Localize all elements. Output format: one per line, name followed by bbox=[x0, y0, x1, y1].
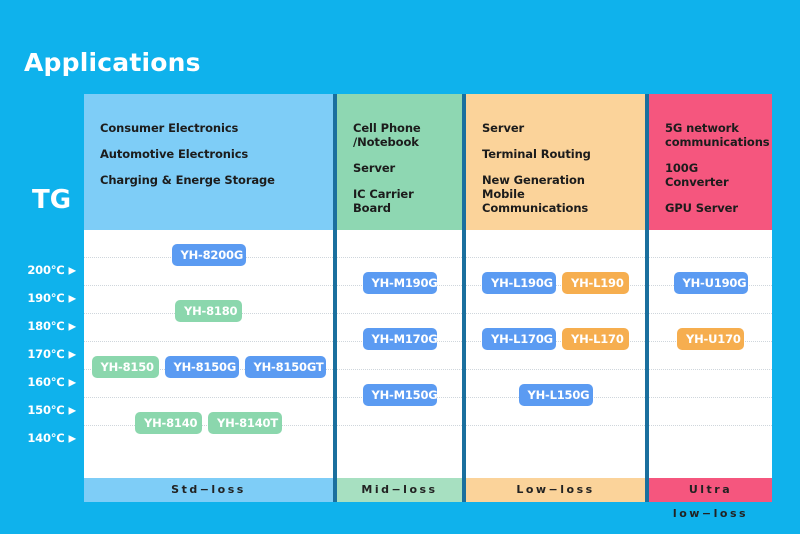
column-header-mid-loss: Cell Phone/NotebookServerIC Carrier Boar… bbox=[337, 94, 462, 230]
application-item: /Notebook bbox=[353, 135, 448, 149]
product-pill[interactable]: YH-8140T bbox=[208, 412, 282, 434]
chart-column-mid-loss: Cell Phone/NotebookServerIC Carrier Boar… bbox=[337, 94, 462, 502]
application-item: IC Carrier Board bbox=[353, 187, 448, 215]
product-pill[interactable]: YH-U190G bbox=[674, 272, 748, 294]
column-footer-low-loss: Low−loss bbox=[466, 478, 645, 502]
application-item: Consumer Electronics bbox=[100, 121, 319, 135]
gridline-190 bbox=[84, 285, 333, 286]
triangle-right-icon: ▶ bbox=[69, 264, 77, 280]
tg-axis-label: TG bbox=[32, 185, 71, 215]
gridline-160 bbox=[337, 369, 462, 370]
gridline-180 bbox=[649, 313, 772, 314]
application-item: Charging & Energe Storage bbox=[100, 173, 319, 187]
temp-tick-label: 200℃ bbox=[27, 263, 64, 277]
gridline-180 bbox=[466, 313, 645, 314]
temp-tick-190: 190℃▶ bbox=[27, 290, 76, 306]
product-pill[interactable]: YH-8150G bbox=[165, 356, 239, 378]
gridline-200 bbox=[649, 257, 772, 258]
application-item: 100G Converter bbox=[665, 161, 758, 189]
temp-tick-label: 170℃ bbox=[27, 347, 64, 361]
column-footer-ultra-low-loss: Ultra low−loss bbox=[649, 478, 772, 502]
column-divider-2 bbox=[645, 94, 649, 502]
product-pill[interactable]: YH-L170G bbox=[482, 328, 556, 350]
page-title: Applications bbox=[24, 48, 201, 77]
temp-tick-170: 170℃▶ bbox=[27, 346, 76, 362]
column-header-std-loss: Consumer ElectronicsAutomotive Electroni… bbox=[84, 94, 333, 230]
applications-chart: Consumer ElectronicsAutomotive Electroni… bbox=[84, 94, 772, 502]
gridline-160 bbox=[649, 369, 772, 370]
application-item: Server bbox=[353, 161, 448, 175]
temp-tick-160: 160℃▶ bbox=[27, 374, 76, 390]
column-footer-std-loss: Std−loss bbox=[84, 478, 333, 502]
chart-column-low-loss: ServerTerminal RoutingNew Generation Mob… bbox=[466, 94, 645, 502]
application-item: New Generation Mobile bbox=[482, 173, 631, 201]
column-header-low-loss: ServerTerminal RoutingNew Generation Mob… bbox=[466, 94, 645, 230]
gridline-200 bbox=[466, 257, 645, 258]
product-pill[interactable]: YH-M150G bbox=[363, 384, 437, 406]
application-item: Communications bbox=[482, 201, 631, 215]
triangle-right-icon: ▶ bbox=[69, 320, 77, 336]
product-pill[interactable]: YH-M170G bbox=[363, 328, 437, 350]
temp-tick-140: 140℃▶ bbox=[27, 430, 76, 446]
product-pill[interactable]: YH-L190 bbox=[562, 272, 629, 294]
temp-tick-150: 150℃▶ bbox=[27, 402, 76, 418]
product-pill[interactable]: YH-L190G bbox=[482, 272, 556, 294]
gridline-160 bbox=[466, 369, 645, 370]
product-pill[interactable]: YH-L170 bbox=[562, 328, 629, 350]
triangle-right-icon: ▶ bbox=[69, 432, 77, 448]
gridline-180 bbox=[337, 313, 462, 314]
product-pill[interactable]: YH-8150 bbox=[92, 356, 159, 378]
application-item: Cell Phone bbox=[353, 121, 448, 135]
temp-tick-label: 180℃ bbox=[27, 319, 64, 333]
product-pill[interactable]: YH-U170 bbox=[677, 328, 744, 350]
column-body-ultra-low-loss: YH-U170YH-U190G bbox=[649, 230, 772, 478]
gridline-140 bbox=[337, 425, 462, 426]
product-pill[interactable]: YH-8200G bbox=[172, 244, 246, 266]
chart-column-ultra-low-loss: 5G networkcommunications100G ConverterGP… bbox=[649, 94, 772, 502]
temp-tick-label: 160℃ bbox=[27, 375, 64, 389]
gridline-170 bbox=[84, 341, 333, 342]
temperature-axis: 200℃▶190℃▶180℃▶170℃▶160℃▶150℃▶140℃▶ bbox=[0, 243, 84, 481]
column-header-ultra-low-loss: 5G networkcommunications100G ConverterGP… bbox=[649, 94, 772, 230]
gridline-150 bbox=[84, 397, 333, 398]
gridline-150 bbox=[649, 397, 772, 398]
product-pill[interactable]: YH-8140 bbox=[135, 412, 202, 434]
application-item: 5G network bbox=[665, 121, 758, 135]
gridline-140 bbox=[466, 425, 645, 426]
column-divider-0 bbox=[333, 94, 337, 502]
application-item: GPU Server bbox=[665, 201, 758, 215]
temp-tick-label: 190℃ bbox=[27, 291, 64, 305]
column-footer-mid-loss: Mid−loss bbox=[337, 478, 462, 502]
product-pill[interactable]: YH-L150G bbox=[519, 384, 593, 406]
application-item: Terminal Routing bbox=[482, 147, 631, 161]
column-divider-1 bbox=[462, 94, 466, 502]
column-body-low-loss: YH-L150GYH-L170GYH-L170YH-L190GYH-L190 bbox=[466, 230, 645, 478]
product-pill[interactable]: YH-8180 bbox=[175, 300, 242, 322]
triangle-right-icon: ▶ bbox=[69, 348, 77, 364]
temp-tick-label: 150℃ bbox=[27, 403, 64, 417]
temp-tick-180: 180℃▶ bbox=[27, 318, 76, 334]
column-body-std-loss: YH-8140YH-8140TYH-8150YH-8150GYH-8150GTY… bbox=[84, 230, 333, 478]
gridline-140 bbox=[649, 425, 772, 426]
triangle-right-icon: ▶ bbox=[69, 376, 77, 392]
application-item: Server bbox=[482, 121, 631, 135]
application-item: communications bbox=[665, 135, 758, 149]
chart-column-std-loss: Consumer ElectronicsAutomotive Electroni… bbox=[84, 94, 333, 502]
temp-tick-label: 140℃ bbox=[27, 431, 64, 445]
product-pill[interactable]: YH-M190G bbox=[363, 272, 437, 294]
triangle-right-icon: ▶ bbox=[69, 404, 77, 420]
product-pill[interactable]: YH-8150GT bbox=[245, 356, 326, 378]
column-body-mid-loss: YH-M150GYH-M170GYH-M190G bbox=[337, 230, 462, 478]
temp-tick-200: 200℃▶ bbox=[27, 262, 76, 278]
gridline-200 bbox=[337, 257, 462, 258]
application-item: Automotive Electronics bbox=[100, 147, 319, 161]
triangle-right-icon: ▶ bbox=[69, 292, 77, 308]
